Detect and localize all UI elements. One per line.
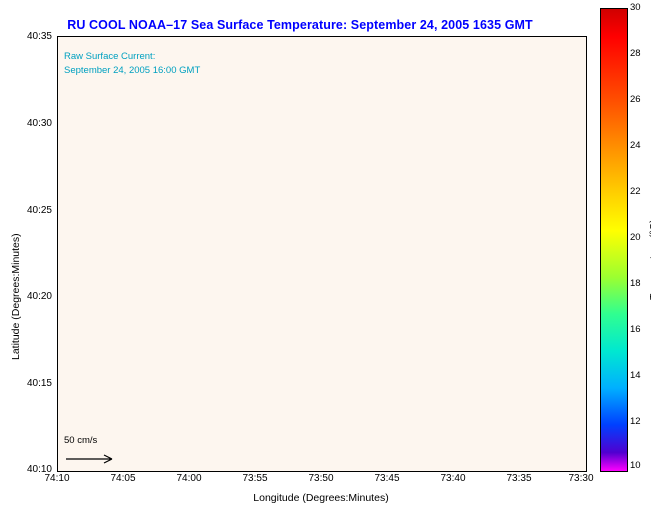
xtick-5: 73:45 [364,473,410,484]
xtick-2: 74:00 [166,473,212,484]
colorbar-tick-26: 26 [630,94,650,105]
colorbar-tick-24: 24 [630,140,650,151]
xtick-4: 73:50 [298,473,344,484]
xtick-6: 73:40 [430,473,476,484]
colorbar-tick-10: 10 [630,460,650,471]
ytick-4: 40:15 [10,378,52,389]
colorbar-tick-16: 16 [630,324,650,335]
xtick-3: 73:55 [232,473,278,484]
colorbar-tick-12: 12 [630,416,650,427]
y-axis-label: Latitude (Degrees:Minutes) [10,233,22,360]
land-background [58,37,586,471]
annotation-line-2: September 24, 2005 16:00 GMT [64,65,200,76]
x-axis-label: Longitude (Degrees:Minutes) [57,492,585,504]
colorbar-tick-14: 14 [630,370,650,381]
scale-bar-label: 50 cm/s [64,435,97,446]
xtick-1: 74:05 [100,473,146,484]
ytick-5: 40:10 [10,464,52,475]
colorbar-tick-30: 30 [630,2,650,13]
annotation-line-1: Raw Surface Current: [64,51,155,62]
map-plot-area: Raw Surface Current: September 24, 2005 … [57,36,587,472]
chart-title: RU COOL NOAA–17 Sea Surface Temperature:… [0,18,600,32]
colorbar [600,8,628,472]
ytick-2: 40:25 [10,205,52,216]
ytick-1: 40:30 [10,118,52,129]
colorbar-tick-28: 28 [630,48,650,59]
colorbar-tick-22: 22 [630,186,650,197]
xtick-7: 73:35 [496,473,542,484]
scale-bar-arrow-icon [64,451,124,467]
colorbar-tick-20: 20 [630,232,650,243]
ytick-0: 40:35 [10,31,52,42]
xtick-8: 73:30 [558,473,604,484]
colorbar-tick-18: 18 [630,278,650,289]
